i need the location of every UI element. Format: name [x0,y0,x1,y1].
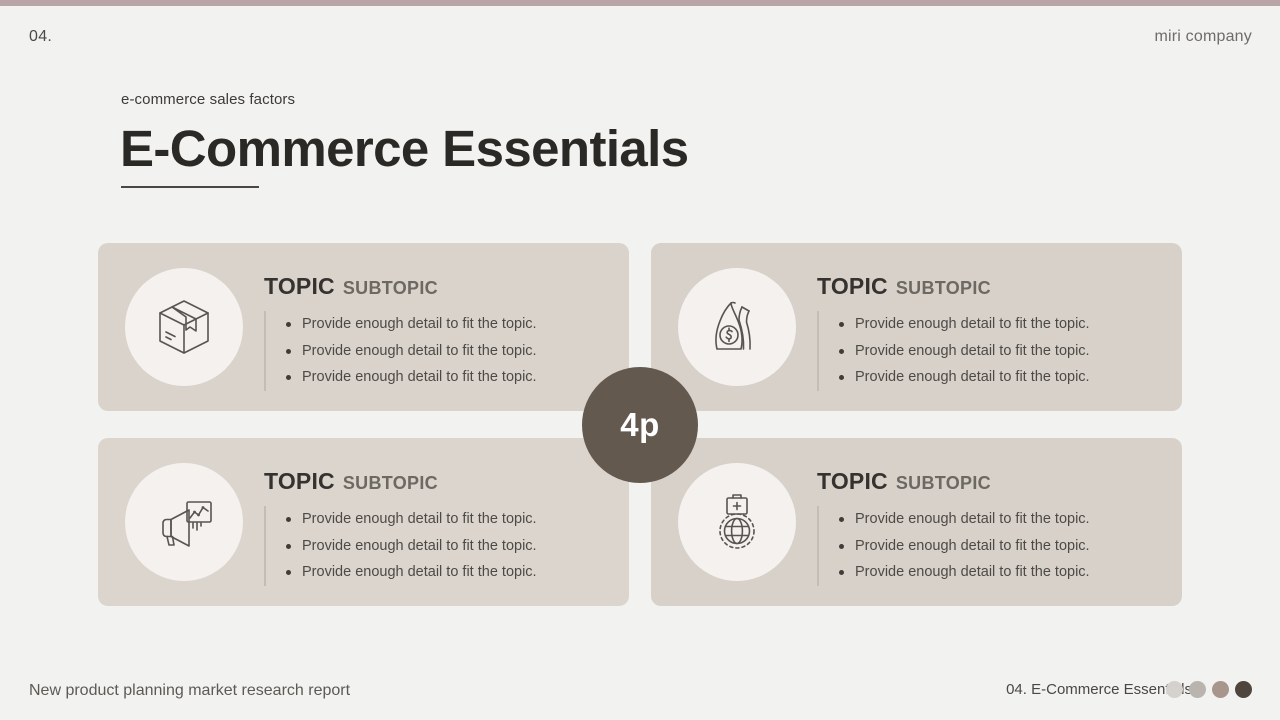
topic-card-4[interactable]: TOPICSUBTOPIC Provide enough detail to f… [651,438,1182,606]
card-heading-3: TOPICSUBTOPIC [264,468,615,495]
card-bullets-3: Provide enough detail to fit the topic. … [264,506,615,586]
progress-dot-3[interactable] [1212,681,1229,698]
card-bullets-2: Provide enough detail to fit the topic. … [817,311,1168,391]
card-body-2: TOPICSUBTOPIC Provide enough detail to f… [817,273,1168,391]
list-item: Provide enough detail to fit the topic. [266,338,615,365]
card-topic-2: TOPIC [817,273,888,299]
card-topic-4: TOPIC [817,468,888,494]
list-item: Provide enough detail to fit the topic. [266,364,615,391]
company-name: miri company [1154,28,1252,46]
list-item: Provide enough detail to fit the topic. [819,364,1168,391]
progress-dot-4[interactable] [1235,681,1252,698]
card-subtopic-3: SUBTOPIC [343,473,438,493]
topic-card-1[interactable]: TOPICSUBTOPIC Provide enough detail to f… [98,243,629,411]
accent-top-bar [0,0,1280,6]
card-topic-1: TOPIC [264,273,335,299]
list-item: Provide enough detail to fit the topic. [266,559,615,586]
footer-section-label: 04. E-Commerce Essentials [1006,681,1192,698]
list-item: Provide enough detail to fit the topic. [266,311,615,338]
card-body-3: TOPICSUBTOPIC Provide enough detail to f… [264,468,615,586]
footer-report-title: New product planning market research rep… [29,682,350,700]
page-title: E-Commerce Essentials [120,119,689,178]
slide: 04. miri company e-commerce sales factor… [0,0,1280,720]
card-heading-1: TOPICSUBTOPIC [264,273,615,300]
card-subtopic-2: SUBTOPIC [896,278,991,298]
price-tag-icon [678,268,796,386]
megaphone-chart-icon [125,463,243,581]
card-subtopic-4: SUBTOPIC [896,473,991,493]
progress-dots[interactable] [1166,681,1252,698]
slide-eyebrow: e-commerce sales factors [121,91,295,108]
global-delivery-icon [678,463,796,581]
page-number: 04. [29,28,52,46]
title-underline [121,186,259,188]
progress-dot-1[interactable] [1166,681,1183,698]
list-item: Provide enough detail to fit the topic. [819,338,1168,365]
card-body-4: TOPICSUBTOPIC Provide enough detail to f… [817,468,1168,586]
list-item: Provide enough detail to fit the topic. [819,311,1168,338]
topic-card-2[interactable]: TOPICSUBTOPIC Provide enough detail to f… [651,243,1182,411]
card-heading-2: TOPICSUBTOPIC [817,273,1168,300]
progress-dot-2[interactable] [1189,681,1206,698]
card-heading-4: TOPICSUBTOPIC [817,468,1168,495]
card-bullets-1: Provide enough detail to fit the topic. … [264,311,615,391]
card-topic-3: TOPIC [264,468,335,494]
card-body-1: TOPICSUBTOPIC Provide enough detail to f… [264,273,615,391]
card-bullets-4: Provide enough detail to fit the topic. … [817,506,1168,586]
list-item: Provide enough detail to fit the topic. [819,533,1168,560]
list-item: Provide enough detail to fit the topic. [266,533,615,560]
list-item: Provide enough detail to fit the topic. [819,506,1168,533]
card-subtopic-1: SUBTOPIC [343,278,438,298]
topic-card-3[interactable]: TOPICSUBTOPIC Provide enough detail to f… [98,438,629,606]
list-item: Provide enough detail to fit the topic. [266,506,615,533]
center-badge: 4p [582,367,698,483]
package-box-icon [125,268,243,386]
list-item: Provide enough detail to fit the topic. [819,559,1168,586]
